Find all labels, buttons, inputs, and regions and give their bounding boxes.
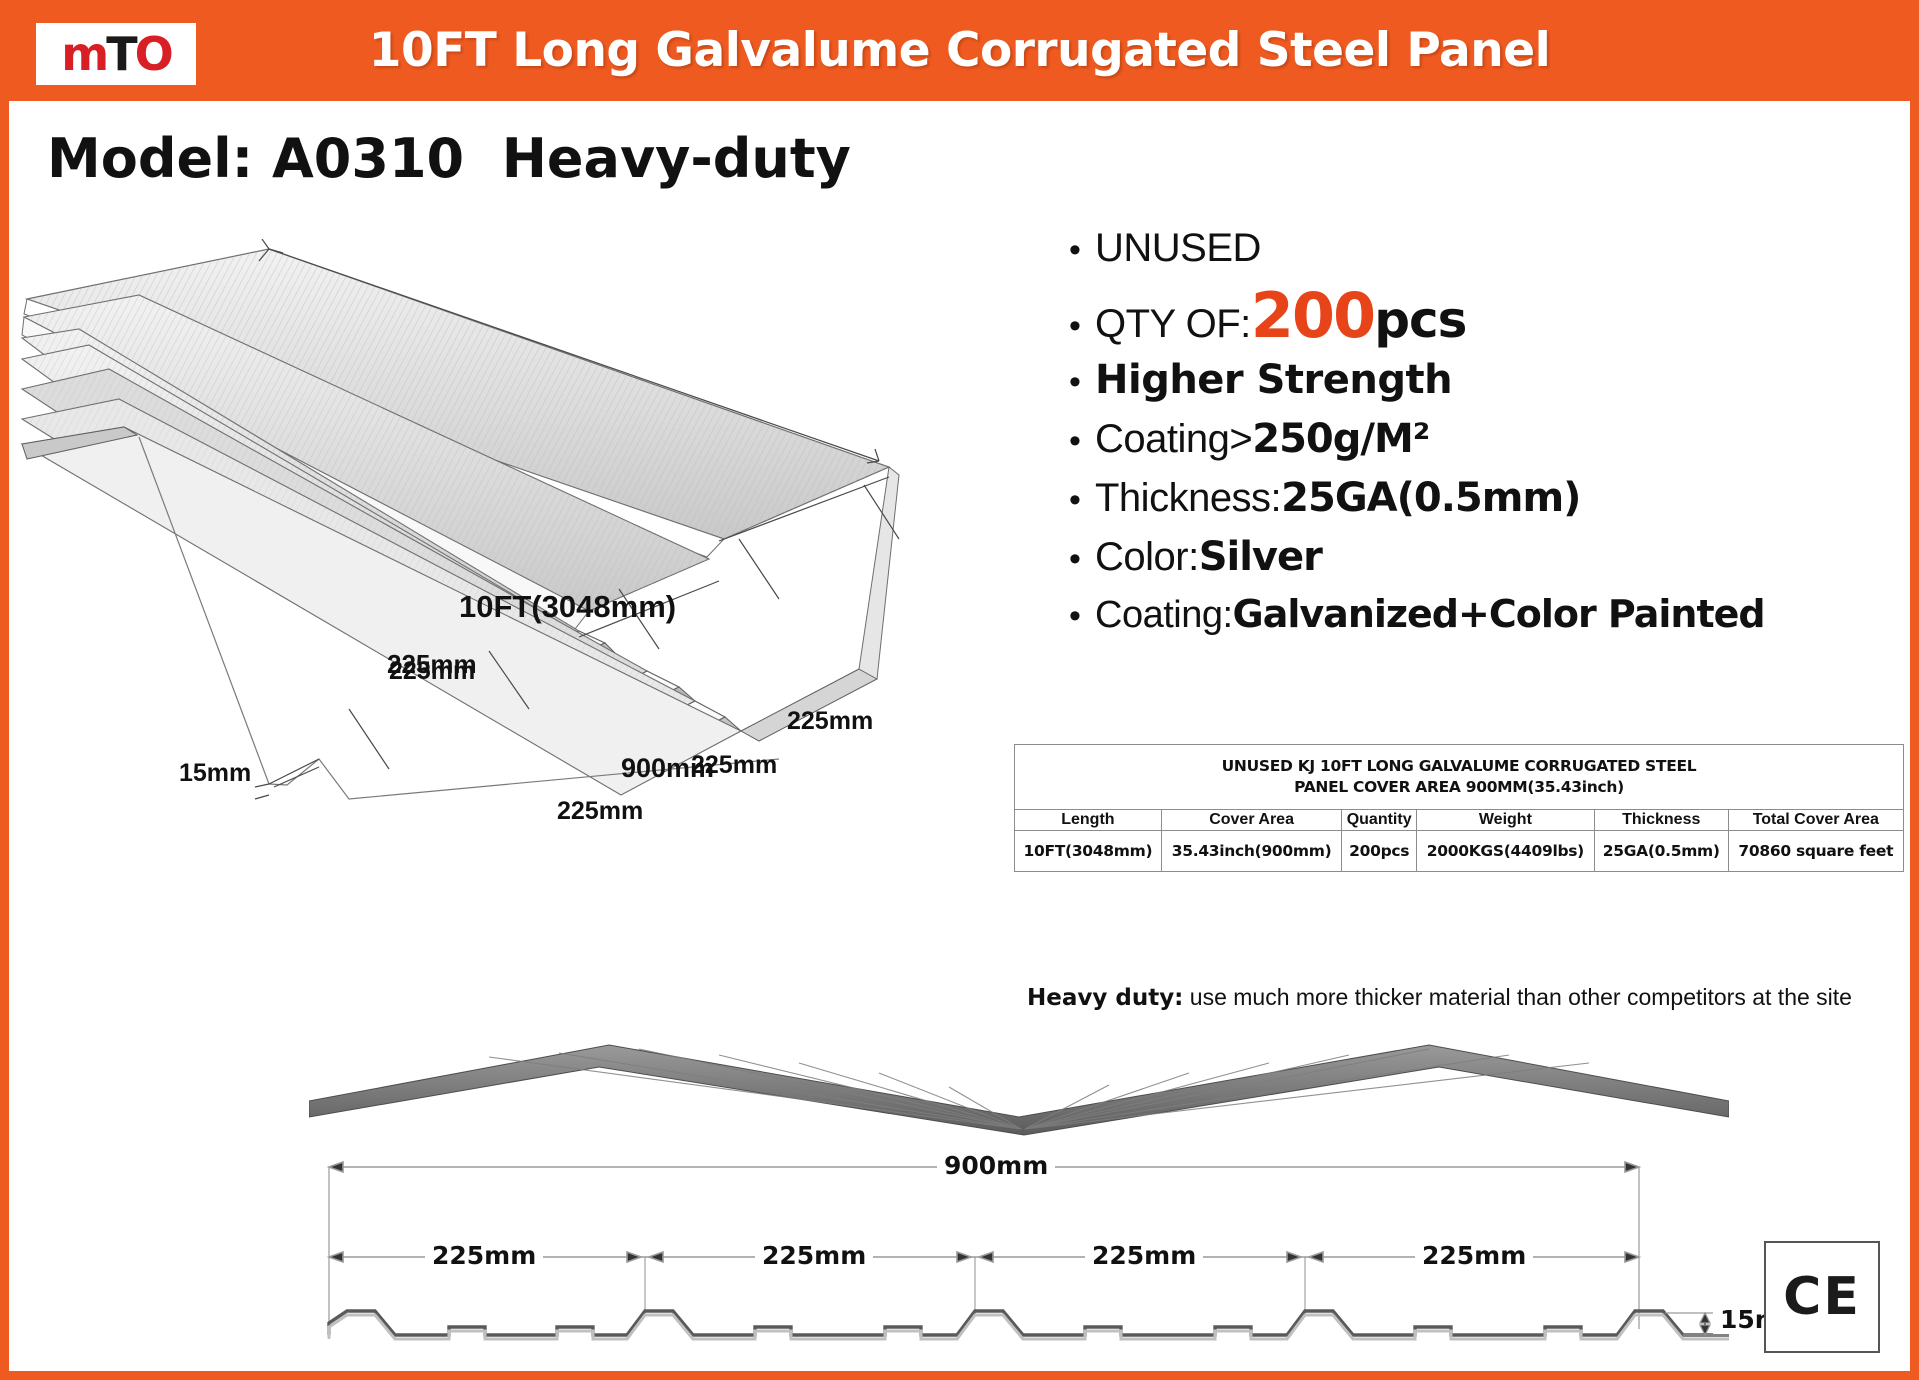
bullet-qty: • QTY OF:200pcs — [1069, 280, 1909, 351]
bullet-dot-icon: • — [1069, 365, 1095, 399]
cell-quantity: 200pcs — [1342, 830, 1416, 871]
header-title: 10FT Long Galvalume Corrugated Steel Pan… — [9, 23, 1910, 78]
cross-section-svg — [309, 1039, 1729, 1359]
dim-rib-3d-1: 225mm — [787, 707, 873, 736]
bullet-dot-icon: • — [1069, 483, 1095, 517]
bullet-dot-icon: • — [1069, 233, 1095, 267]
heavy-duty-note: Heavy duty: use much more thicker materi… — [1027, 984, 1919, 1011]
panel-surface — [22, 249, 899, 799]
bullet-dot-icon: • — [1069, 424, 1095, 458]
table-row: 10FT(3048mm) 35.43inch(900mm) 200pcs 200… — [1015, 830, 1904, 871]
section-rib-label-4: 225mm — [1415, 1241, 1533, 1270]
table-header-thickness: Thickness — [1594, 809, 1728, 830]
table-header-length: Length — [1015, 809, 1162, 830]
bullet-coating-type-label: Coating: — [1095, 594, 1233, 638]
spec-table-wrapper: UNUSED KJ 10FT LONG GALVALUME CORRUGATED… — [1014, 744, 1904, 872]
bullet-unused: • UNUSED — [1069, 225, 1909, 271]
table-title-row: UNUSED KJ 10FT LONG GALVALUME CORRUGATED… — [1015, 745, 1904, 810]
panel-3d-svg — [19, 239, 1079, 819]
table-title-line1: UNUSED KJ 10FT LONG GALVALUME CORRUGATED… — [1222, 757, 1697, 775]
table-header-row: Length Cover Area Quantity Weight Thickn… — [1015, 809, 1904, 830]
table-header-quantity: Quantity — [1342, 809, 1416, 830]
heavy-duty-note-text: use much more thicker material than othe… — [1183, 984, 1852, 1010]
bullet-coating-type: • Coating:Galvanized+Color Painted — [1069, 593, 1909, 638]
corrugation-profile — [329, 1311, 1729, 1339]
bullet-coating-weight-label: Coating> — [1095, 416, 1252, 462]
cross-section-drawing: 900mm 225mm 225mm 225mm 225mm 15mm — [309, 1039, 1729, 1359]
section-total-label: 900mm — [937, 1151, 1055, 1180]
product-spec-sheet: mTO 10FT Long Galvalume Corrugated Steel… — [0, 0, 1919, 1380]
bullet-color-value: Silver — [1199, 534, 1322, 580]
dim-length-3d: 10FT(3048mm) — [459, 589, 676, 625]
bullet-coating-weight: • Coating>250g/M² — [1069, 416, 1909, 462]
bullet-qty-unit: pcs — [1374, 292, 1466, 350]
cell-total-cover-area: 70860 square feet — [1728, 830, 1903, 871]
bullet-thickness: • Thickness:25GA(0.5mm) — [1069, 475, 1909, 521]
bullet-higher-strength-label: Higher Strength — [1095, 357, 1452, 403]
spec-table: UNUSED KJ 10FT LONG GALVALUME CORRUGATED… — [1014, 744, 1904, 872]
spec-bullet-list: • UNUSED • QTY OF:200pcs • Higher Streng… — [1069, 225, 1909, 651]
bullet-thickness-label: Thickness: — [1095, 475, 1281, 521]
bullet-coating-type-value: Galvanized+Color Painted — [1233, 593, 1765, 637]
bullet-unused-label: UNUSED — [1095, 225, 1261, 271]
bullet-higher-strength: • Higher Strength — [1069, 357, 1909, 403]
section-rib-label-1: 225mm — [425, 1241, 543, 1270]
bullet-dot-icon: • — [1069, 599, 1095, 633]
dim-height-3d: 15mm — [179, 759, 251, 788]
heavy-duty-note-label: Heavy duty: — [1027, 985, 1183, 1011]
cell-weight: 2000KGS(4409lbs) — [1416, 830, 1594, 871]
table-header-cover-area: Cover Area — [1161, 809, 1342, 830]
panel-perspective-fan — [309, 1045, 1729, 1135]
ce-mark-icon: CE — [1783, 1267, 1861, 1327]
dim-rib-3d-5: 225mm — [387, 649, 477, 680]
cell-length: 10FT(3048mm) — [1015, 830, 1162, 871]
dim-rib-3d-3: 225mm — [557, 797, 643, 826]
header-bar: mTO 10FT Long Galvalume Corrugated Steel… — [9, 9, 1910, 101]
bullet-thickness-value: 25GA(0.5mm) — [1281, 475, 1580, 521]
table-title-line2: PANEL COVER AREA 900MM(35.43inch) — [1294, 778, 1624, 796]
section-rib-label-3: 225mm — [1085, 1241, 1203, 1270]
model-line: Model: A0310 Heavy-duty — [47, 127, 851, 190]
panel-3d-illustration: 10FT(3048mm) 900mm 225mm 225mm 225mm 225… — [19, 239, 1079, 819]
table-header-weight: Weight — [1416, 809, 1594, 830]
bullet-dot-icon: • — [1069, 309, 1095, 343]
table-header-total-cover-area: Total Cover Area — [1728, 809, 1903, 830]
bullet-color-label: Color: — [1095, 534, 1199, 580]
dim-rib-3d-2: 225mm — [691, 751, 777, 780]
bullet-coating-weight-value: 250g/M² — [1252, 416, 1429, 462]
bullet-dot-icon: • — [1069, 542, 1095, 576]
cell-cover-area: 35.43inch(900mm) — [1161, 830, 1342, 871]
ce-mark-box: CE — [1764, 1241, 1880, 1353]
cell-thickness: 25GA(0.5mm) — [1594, 830, 1728, 871]
section-rib-label-2: 225mm — [755, 1241, 873, 1270]
bullet-qty-label: QTY OF: — [1095, 301, 1251, 347]
bullet-qty-number: 200 — [1251, 280, 1374, 351]
table-title-cell: UNUSED KJ 10FT LONG GALVALUME CORRUGATED… — [1015, 745, 1904, 810]
bullet-color: • Color:Silver — [1069, 534, 1909, 580]
